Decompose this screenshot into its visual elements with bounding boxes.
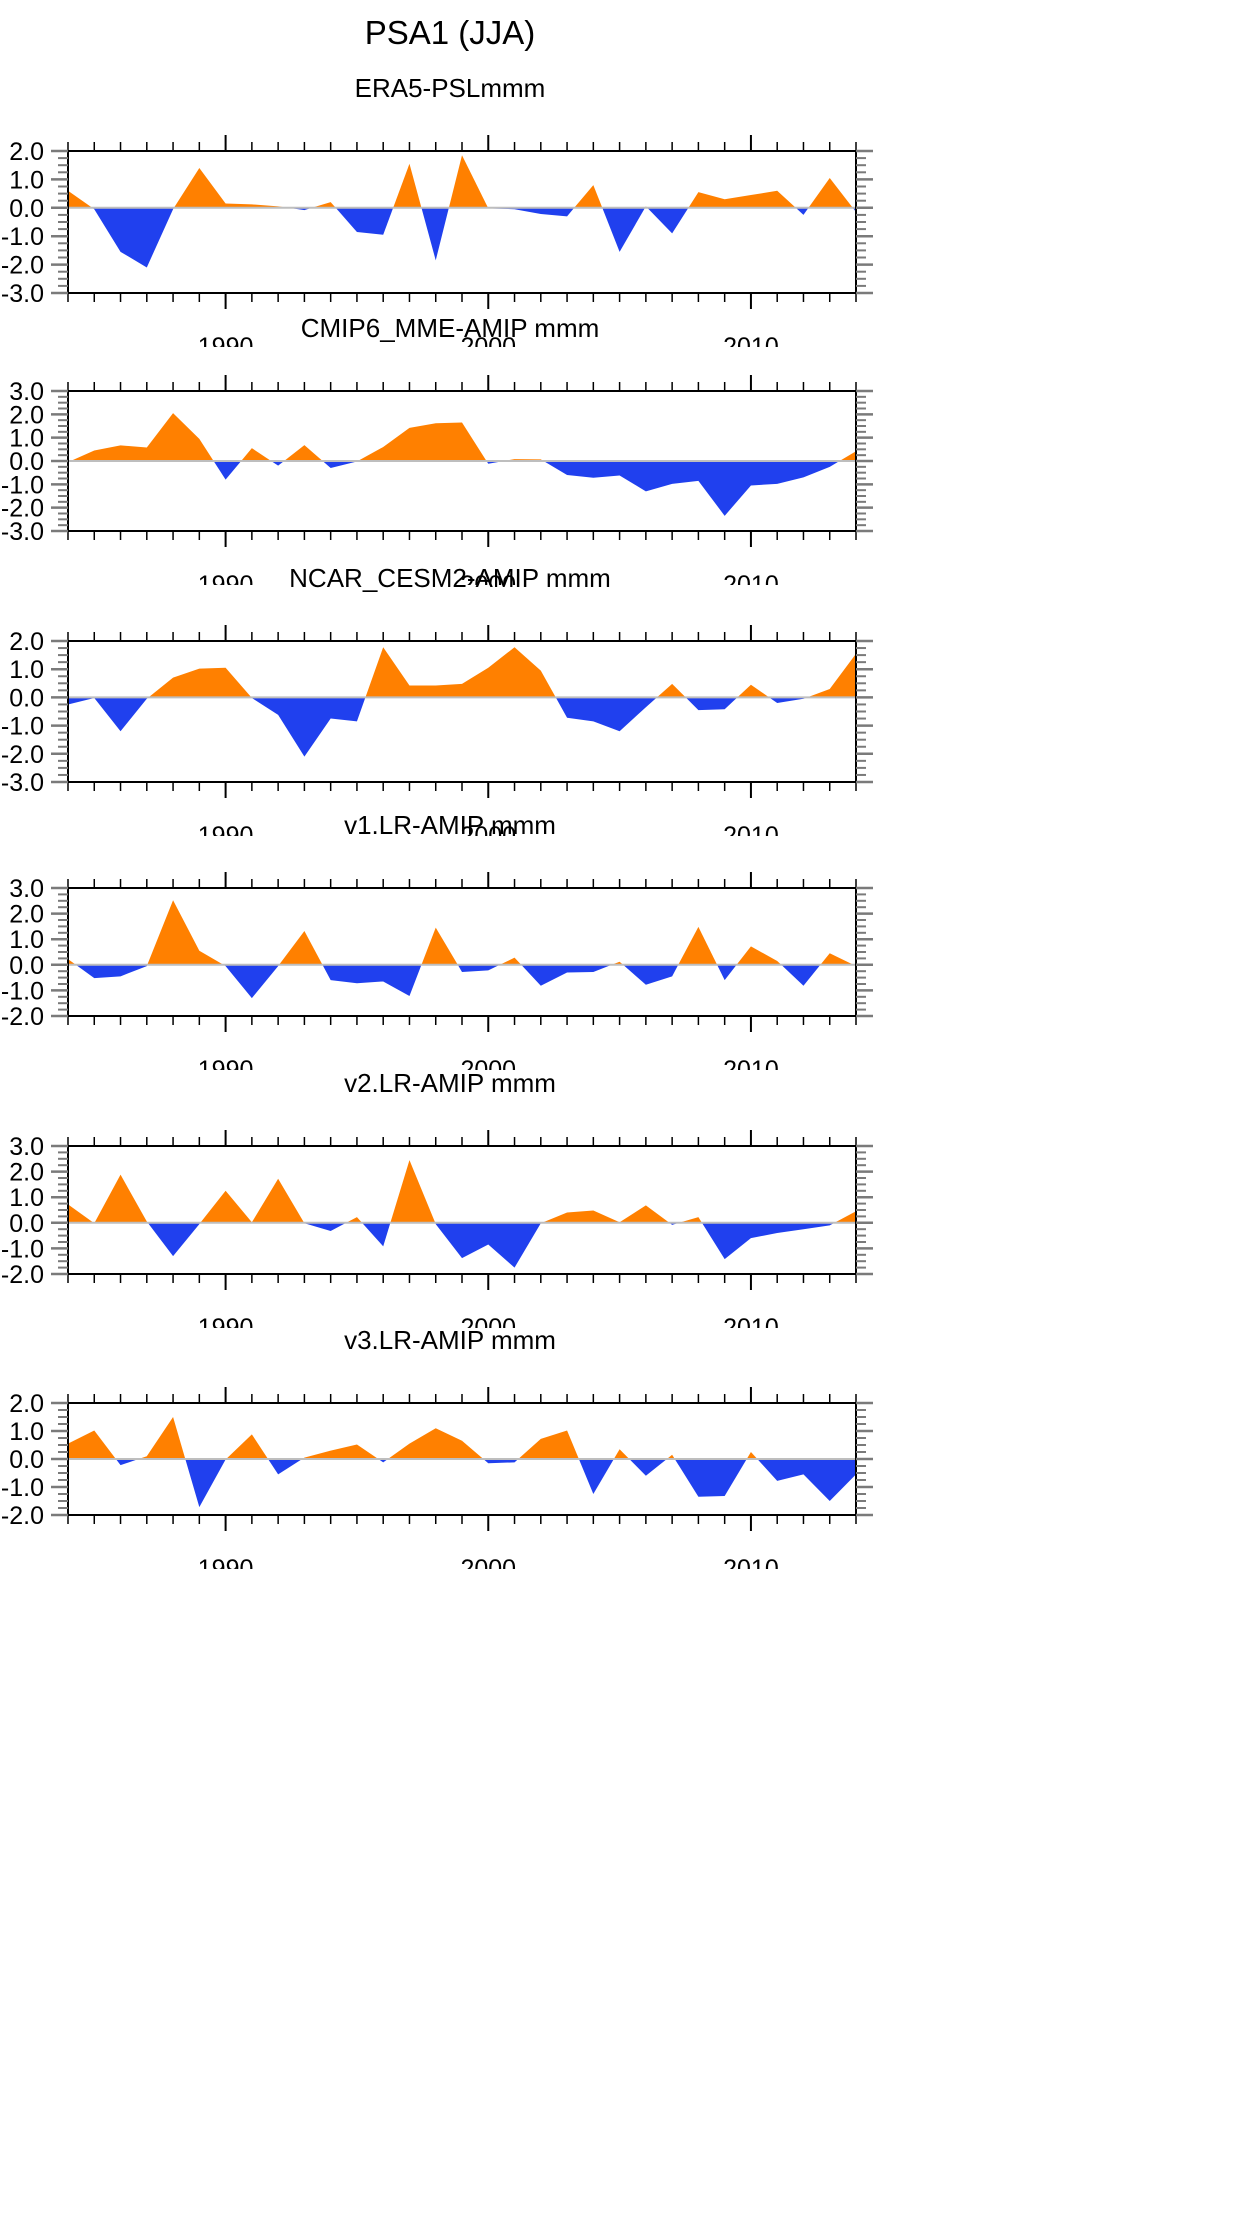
y-tick-label: -2.0: [1, 1502, 44, 1530]
positive-area: [807, 654, 856, 698]
positive-area: [226, 1434, 268, 1459]
y-ticks: [51, 641, 873, 782]
y-tick-label: -2.0: [1, 252, 44, 280]
negative-area: [488, 208, 574, 217]
y-tick-label: -3.0: [1, 280, 44, 308]
y-tick-label: 1.0: [9, 656, 44, 684]
negative-area: [544, 461, 840, 516]
negative-area: [781, 965, 820, 986]
y-tick-label: 2.0: [9, 138, 44, 166]
y-tick-label: -1.0: [1, 223, 44, 251]
positive-area: [421, 928, 457, 965]
positive-area: [657, 684, 686, 698]
positive-area: [574, 185, 602, 208]
y-tick-label: 2.0: [9, 901, 44, 929]
positive-area: [737, 685, 769, 698]
negative-area: [268, 1459, 302, 1474]
positive-area: [139, 1417, 186, 1459]
x-tick-label: 2000: [460, 1555, 516, 1569]
negative-area: [336, 208, 394, 235]
negative-area: [323, 461, 358, 468]
y-tick-label: -1.0: [1, 1235, 44, 1263]
negative-area: [458, 965, 500, 972]
y-tick-label: 1.0: [9, 166, 44, 194]
negative-area: [362, 1223, 390, 1247]
y-tick-label: 0.0: [9, 952, 44, 980]
positive-area: [809, 178, 853, 208]
negative-area: [421, 208, 448, 261]
positive-area: [68, 191, 92, 208]
panel-title-ncar_cesm2: NCAR_CESM2-AMIP mmm: [0, 563, 900, 594]
y-tick-label: -3.0: [1, 518, 44, 546]
negative-area: [304, 1223, 346, 1231]
negative-area: [148, 1223, 201, 1256]
panel-cmip6_mme: CMIP6_MME-AMIP mmm3.02.01.00.0-1.0-2.0-3…: [0, 313, 900, 585]
negative-area: [521, 965, 612, 986]
y-tick-label: 2.0: [9, 1390, 44, 1418]
panel-ncar_cesm2: NCAR_CESM2-AMIP mmm2.01.00.0-1.0-2.0-3.0…: [0, 563, 900, 836]
negative-area: [68, 697, 149, 731]
y-tick-label: 3.0: [9, 1133, 44, 1161]
negative-area: [796, 208, 809, 215]
positive-area: [241, 448, 271, 461]
x-tick-label: 2010: [723, 1555, 779, 1569]
panel-v1_lr: v1.LR-AMIP mmm3.02.01.00.0-1.0-2.0199020…: [0, 810, 900, 1070]
positive-area: [174, 168, 288, 208]
y-tick-label: 0.0: [9, 195, 44, 223]
positive-area: [279, 931, 322, 965]
negative-area: [556, 697, 657, 731]
negative-area: [647, 208, 688, 234]
y-tick-label: -1.0: [1, 977, 44, 1005]
positive-area: [500, 958, 521, 965]
positive-area: [449, 155, 488, 208]
negative-area: [322, 965, 421, 996]
positive-area: [542, 1205, 669, 1222]
y-tick-label: -3.0: [1, 769, 44, 797]
plot-area-v3_lr: 2.01.00.0-1.0-2.0199020002010: [0, 1365, 900, 1569]
panel-title-v2_lr: v2.LR-AMIP mmm: [0, 1068, 900, 1099]
x-tick-label: 1990: [198, 1555, 254, 1569]
y-tick-label: 0.0: [9, 1446, 44, 1474]
positive-area: [840, 451, 856, 461]
y-tick-label: 0.0: [9, 1210, 44, 1238]
positive-area: [284, 445, 323, 461]
plot-area-v2_lr: 3.02.01.00.0-1.0-2.0199020002010: [0, 1108, 900, 1328]
negative-area: [686, 697, 738, 710]
x-ticks: [68, 625, 856, 798]
figure-title: PSA1 (JJA): [0, 14, 900, 52]
plot-area-v1_lr: 3.02.01.00.0-1.0-2.0199020002010: [0, 850, 900, 1070]
y-tick-label: -1.0: [1, 1474, 44, 1502]
positive-area: [365, 647, 555, 697]
negative-area: [579, 1459, 614, 1494]
plot-area-ncar_cesm2: 2.01.00.0-1.0-2.0-3.0199020002010: [0, 603, 900, 836]
positive-area: [393, 164, 421, 208]
positive-area: [71, 413, 214, 461]
positive-area: [68, 1430, 116, 1459]
panel-v2_lr: v2.LR-AMIP mmm3.02.01.00.0-1.0-2.0199020…: [0, 1068, 900, 1328]
y-tick-label: 1.0: [9, 1184, 44, 1212]
plot-area-cmip6_mme: 3.02.01.00.0-1.0-2.0-3.0199020002010: [0, 353, 900, 585]
positive-area: [678, 927, 717, 965]
panel-title-v1_lr: v1.LR-AMIP mmm: [0, 810, 900, 841]
y-tick-label: 2.0: [9, 1159, 44, 1187]
y-tick-label: -2.0: [1, 1003, 44, 1031]
positive-area: [388, 1428, 483, 1459]
negative-area: [629, 1459, 667, 1476]
panel-v3_lr: v3.LR-AMIP mmm2.01.00.0-1.0-2.0199020002…: [0, 1325, 900, 1569]
negative-area: [435, 1223, 542, 1268]
positive-area: [390, 1160, 435, 1223]
y-tick-label: 1.0: [9, 926, 44, 954]
negative-area: [675, 1459, 747, 1497]
negative-area: [214, 461, 242, 480]
positive-area: [737, 946, 782, 964]
positive-area: [147, 900, 223, 965]
x-ticks: [68, 1130, 856, 1290]
positive-area: [149, 668, 252, 698]
negative-area: [717, 965, 737, 980]
negative-area: [623, 965, 678, 985]
positive-area: [68, 1204, 94, 1222]
positive-area: [358, 423, 487, 462]
y-tick-label: -2.0: [1, 741, 44, 769]
positive-area: [820, 953, 853, 965]
panel-era5: ERA5-PSLmmm2.01.00.0-1.0-2.0-3.019902000…: [0, 73, 900, 347]
y-tick-label: 3.0: [9, 875, 44, 903]
y-tick-label: -2.0: [1, 1261, 44, 1289]
negative-area: [92, 208, 174, 268]
negative-area: [76, 965, 148, 978]
positive-area: [835, 1211, 856, 1223]
figure-canvas: PSA1 (JJA) ERA5-PSLmmm2.01.00.0-1.0-2.0-…: [0, 0, 1249, 2229]
positive-area: [518, 1430, 579, 1459]
panel-title-era5: ERA5-PSLmmm: [0, 73, 900, 104]
positive-area: [95, 1175, 148, 1223]
y-tick-label: -1.0: [1, 713, 44, 741]
negative-area: [185, 1459, 226, 1507]
positive-area: [614, 1449, 629, 1459]
axis-frame: [68, 641, 856, 782]
negative-area: [223, 965, 279, 998]
positive-area: [688, 191, 795, 208]
negative-area: [757, 1459, 856, 1501]
positive-area: [302, 1444, 378, 1459]
positive-area: [747, 1452, 758, 1459]
y-tick-label: 0.0: [9, 684, 44, 712]
plot-area-era5: 2.01.00.0-1.0-2.0-3.0199020002010: [0, 113, 900, 347]
y-tick-label: 1.0: [9, 1418, 44, 1446]
positive-area: [200, 1179, 304, 1223]
y-tick-label: 2.0: [9, 628, 44, 656]
panel-title-cmip6_mme: CMIP6_MME-AMIP mmm: [0, 313, 900, 344]
negative-area: [251, 697, 365, 756]
negative-area: [702, 1223, 835, 1259]
panel-title-v3_lr: v3.LR-AMIP mmm: [0, 1325, 900, 1356]
negative-area: [602, 208, 645, 252]
